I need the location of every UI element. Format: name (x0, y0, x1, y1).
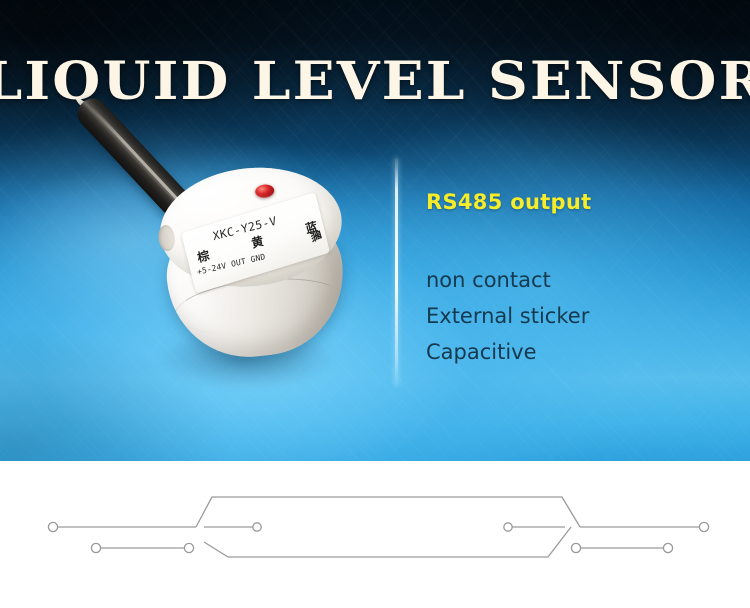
product-image: XKC-Y25-V 棕 黄 蓝 +5-24V OUT GND 黑 (60, 150, 390, 461)
section-divider-decoration (0, 461, 750, 608)
wire-color-brown: 棕 (196, 246, 211, 266)
deco-node-right-lower-end (663, 543, 672, 552)
deco-node-left-outer (48, 522, 57, 531)
wire-color-yellow: 黄 (250, 232, 265, 252)
sensor-body: XKC-Y25-V 棕 黄 蓝 +5-24V OUT GND 黑 (150, 159, 359, 374)
vertical-divider (395, 158, 398, 386)
deco-node-right-outer (699, 522, 708, 531)
deco-node-right-lower-start (571, 543, 580, 552)
deco-node-left-lower-start (91, 543, 100, 552)
feature-headline: RS485 output (426, 190, 591, 214)
deco-node-left-lower-end (184, 543, 193, 552)
hero-section: LIQUID LEVEL SENSOR XKC-Y25-V 棕 黄 蓝 (0, 0, 750, 461)
page-title: LIQUID LEVEL SENSOR (0, 52, 750, 112)
deco-hexagon-top (196, 497, 580, 527)
feature-list: non contact External sticker Capacitive (426, 262, 589, 370)
feature-item-external-sticker: External sticker (426, 298, 589, 334)
footer-section: Product Description (0, 461, 750, 608)
deco-node-right-inner (504, 523, 512, 531)
deco-node-left-inner (253, 523, 261, 531)
product-banner: LIQUID LEVEL SENSOR XKC-Y25-V 棕 黄 蓝 (0, 0, 750, 608)
feature-item-capacitive: Capacitive (426, 334, 589, 370)
feature-item-non-contact: non contact (426, 262, 589, 298)
deco-hexagon-bottom (204, 527, 571, 557)
